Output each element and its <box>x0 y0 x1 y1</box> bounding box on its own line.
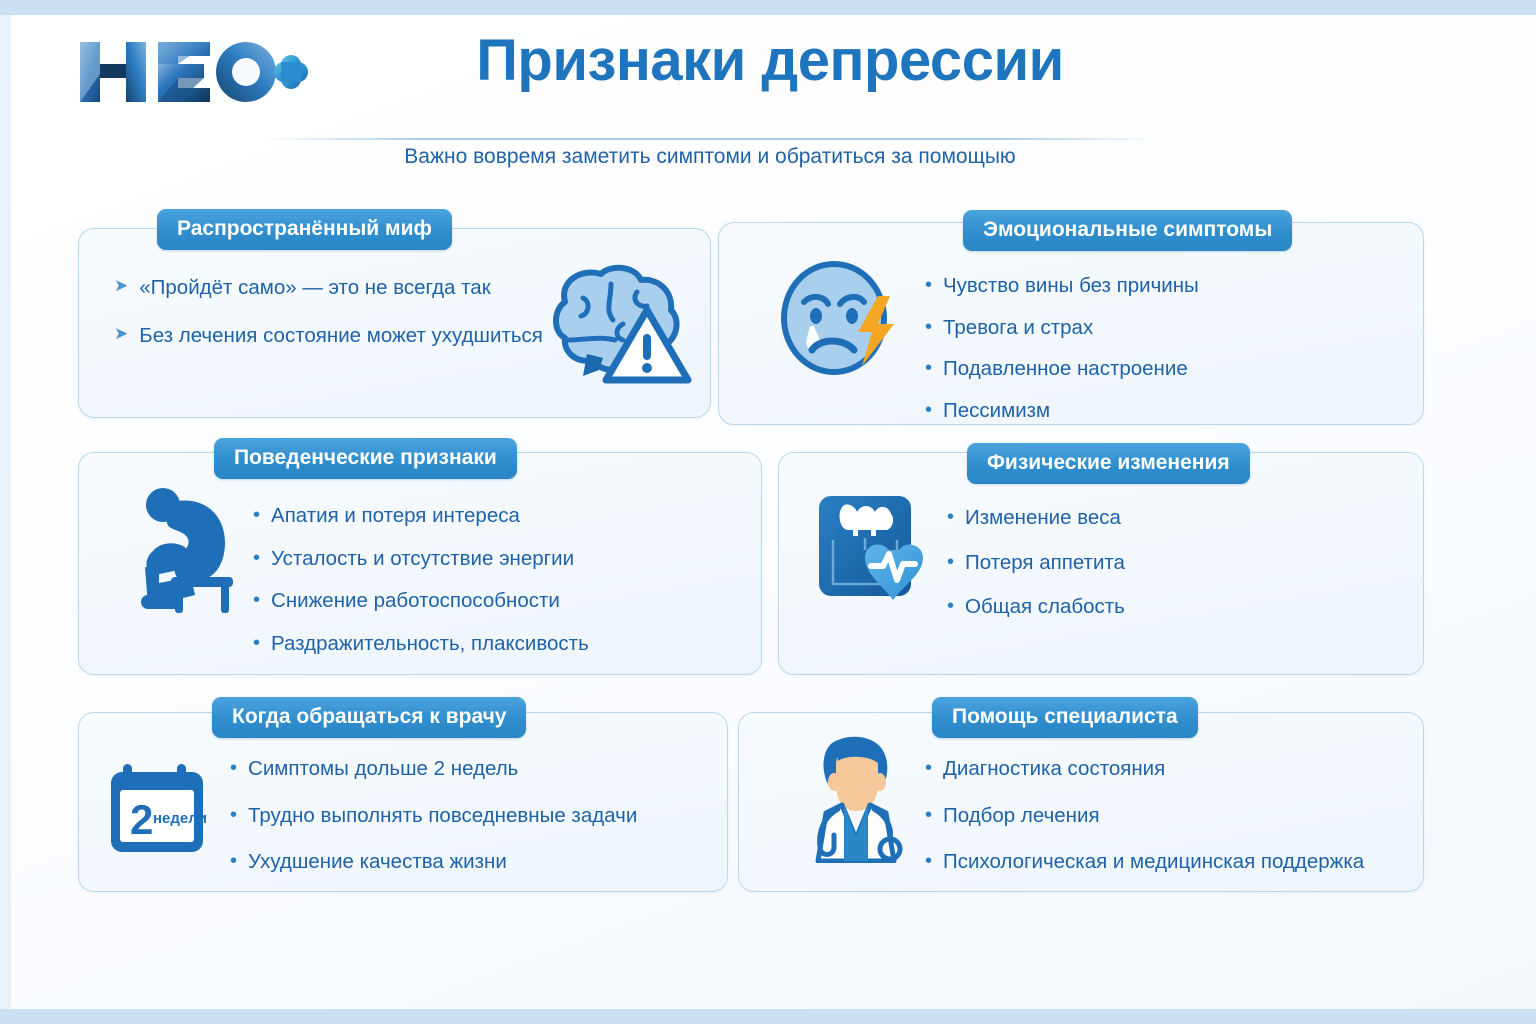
dot-bullet-icon: • <box>925 756 932 781</box>
card-physical-bullets: • Изменение веса • Потеря аппетита • Общ… <box>947 505 1367 620</box>
list-item: • Ухудшение качества жизни <box>230 849 680 875</box>
list-item-label: «Пройдёт само» — это не всегда так <box>139 275 490 301</box>
list-item: • Подбор лечения <box>925 803 1425 829</box>
dot-bullet-icon: • <box>925 803 932 828</box>
list-item-label: Без лечения состояние может ухудшиться <box>139 323 543 349</box>
card-myth-bullets: ➤ «Пройдёт само» — это не всегда так ➤ Б… <box>114 275 514 348</box>
arrow-bullet-icon: ➤ <box>114 275 128 296</box>
card-myth-badge: Распространённый миф <box>157 209 452 250</box>
list-item: • Усталость и отсутствие энергии <box>253 546 673 572</box>
doctor-icon <box>790 735 922 863</box>
dot-bullet-icon: • <box>230 803 237 828</box>
list-item-label: Тревога и страх <box>943 315 1093 341</box>
dot-bullet-icon: • <box>230 756 237 781</box>
dot-bullet-icon: • <box>947 594 954 619</box>
dot-bullet-icon: • <box>230 849 237 874</box>
list-item-label: Подбор лечения <box>943 803 1100 829</box>
dot-bullet-icon: • <box>947 550 954 575</box>
list-item-label: Психологическая и медицинская поддержка <box>943 849 1364 875</box>
card-when-to-see-doctor-bullets: • Симптомы дольше 2 недель • Трудно выпо… <box>230 756 680 875</box>
card-behavioral-badge: Поведенческие признаки <box>214 438 517 479</box>
list-item: • Снижение работоспособности <box>253 588 673 614</box>
list-item-label: Ухудшение качества жизни <box>248 849 507 875</box>
list-item-label: Чувство вины без причины <box>943 273 1199 299</box>
calendar-two-weeks-icon: 2 недели <box>105 760 217 858</box>
dot-bullet-icon: • <box>925 849 932 874</box>
list-item-label: Диагностика состояния <box>943 756 1165 782</box>
list-item: • Раздражительность, плаксивость <box>253 631 673 657</box>
dot-bullet-icon: • <box>253 546 260 571</box>
list-item-label: Трудно выполнять повседневные задачи <box>248 803 637 829</box>
infographic-page: Признаки депрессии Важно вовремя заметит… <box>0 0 1536 1024</box>
list-item: • Апатия и потеря интереса <box>253 503 673 529</box>
page-subtitle: Важно вовремя заметить симптоми и обрати… <box>262 145 1158 169</box>
list-item: • Изменение веса <box>947 505 1367 531</box>
list-item-label: Симптомы дольше 2 недель <box>248 756 518 782</box>
dot-bullet-icon: • <box>925 356 932 381</box>
list-item-label: Изменение веса <box>965 505 1121 531</box>
sitting-person-icon <box>133 483 253 613</box>
svg-text:недели: недели <box>153 810 207 827</box>
scale-heart-icon <box>813 488 937 608</box>
list-item-label: Раздражительность, плаксивость <box>271 631 589 657</box>
title-divider <box>262 138 1158 140</box>
header: Признаки депрессии Важно вовремя заметит… <box>0 15 1536 180</box>
card-when-to-see-doctor-badge: Когда обращаться к врачу <box>212 697 526 738</box>
list-item-label: Апатия и потеря интереса <box>271 503 520 529</box>
list-item-label: Снижение работоспособности <box>271 588 560 614</box>
top-edge-strip <box>0 0 1536 15</box>
dot-bullet-icon: • <box>253 588 260 613</box>
list-item-label: Общая слабость <box>965 594 1125 620</box>
list-item: • Симптомы дольше 2 недель <box>230 756 680 782</box>
bottom-edge-strip <box>0 1009 1536 1024</box>
card-specialist-help-bullets: • Диагностика состояния • Подбор лечения… <box>925 756 1425 875</box>
dot-bullet-icon: • <box>947 505 954 530</box>
dot-bullet-icon: • <box>253 503 260 528</box>
dot-bullet-icon: • <box>253 631 260 656</box>
list-item: • Психологическая и медицинская поддержк… <box>925 849 1425 875</box>
dot-bullet-icon: • <box>925 273 932 298</box>
dot-bullet-icon: • <box>925 315 932 340</box>
list-item: • Диагностика состояния <box>925 756 1425 782</box>
sad-face-lightning-icon <box>778 258 906 378</box>
list-item: • Потеря аппетита <box>947 550 1367 576</box>
list-item-label: Усталость и отсутствие энергии <box>271 546 574 572</box>
card-physical-badge: Физические изменения <box>967 443 1250 484</box>
card-emotional-badge: Эмоциональные симптомы <box>963 210 1292 251</box>
list-item: ➤ Без лечения состояние может ухудшиться <box>114 323 514 349</box>
page-title: Признаки депрессии <box>380 27 1160 94</box>
list-item: • Пессимизм <box>925 398 1375 424</box>
list-item: • Подавленное настроение <box>925 356 1375 382</box>
neo-plus-logo <box>74 33 314 111</box>
card-emotional-bullets: • Чувство вины без причины • Тревога и с… <box>925 273 1375 424</box>
list-item-label: Подавленное настроение <box>943 356 1188 382</box>
brain-warning-icon <box>527 258 697 390</box>
list-item: • Чувство вины без причины <box>925 273 1375 299</box>
list-item: • Тревога и страх <box>925 315 1375 341</box>
dot-bullet-icon: • <box>925 398 932 423</box>
arrow-bullet-icon: ➤ <box>114 323 128 344</box>
card-behavioral-bullets: • Апатия и потеря интереса • Усталость и… <box>253 503 673 657</box>
svg-text:2: 2 <box>130 796 153 843</box>
list-item: • Общая слабость <box>947 594 1367 620</box>
list-item-label: Пессимизм <box>943 398 1050 424</box>
list-item: ➤ «Пройдёт само» — это не всегда так <box>114 275 514 301</box>
list-item: • Трудно выполнять повседневные задачи <box>230 803 680 829</box>
card-specialist-help-badge: Помощь специалиста <box>932 697 1198 738</box>
list-item-label: Потеря аппетита <box>965 550 1125 576</box>
